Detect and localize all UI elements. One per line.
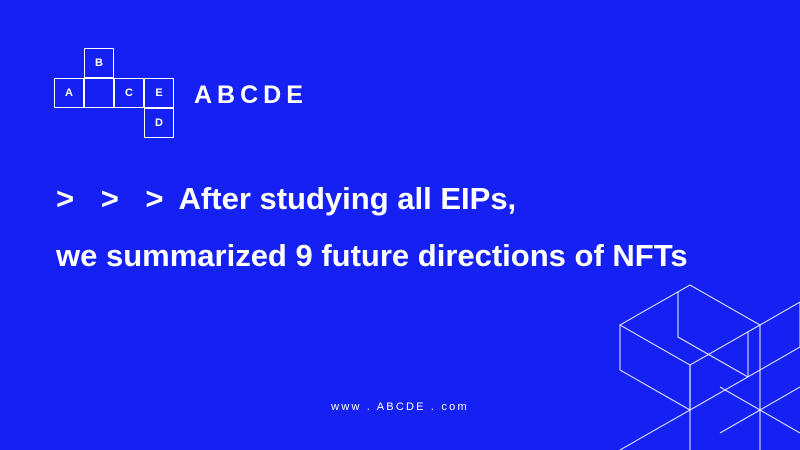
logo-cell-d: D (144, 108, 174, 138)
logo-cell-blank (84, 78, 114, 108)
headline-line-1-text: After studying all EIPs, (179, 181, 517, 216)
logo-cell-a: A (54, 78, 84, 108)
logo-cell-b: B (84, 48, 114, 78)
logo-mark: B A C E D (54, 48, 170, 140)
headline-block: > > >After studying all EIPs, we summari… (56, 183, 688, 271)
logo-cell-e-label: E (155, 88, 162, 99)
logo-cell-a-label: A (65, 88, 73, 99)
brand-wordmark: ABCDE (194, 83, 308, 108)
headline-line-1: > > >After studying all EIPs, (56, 183, 688, 214)
footer-url: www . ABCDE . com (0, 401, 800, 413)
isometric-cube-wireframe-icon (560, 275, 800, 450)
logo-cell-b-label: B (95, 58, 103, 69)
chevron-prefix: > > > (56, 181, 173, 216)
logo-cell-d-label: D (155, 118, 163, 129)
logo-cell-e: E (144, 78, 174, 108)
logo-cell-c: C (114, 78, 144, 108)
logo-cell-c-label: C (125, 88, 133, 99)
slide-canvas: B A C E D ABCDE > > >After studying all … (0, 0, 800, 450)
headline-line-2: we summarized 9 future directions of NFT… (56, 240, 688, 271)
brand-lockup: B A C E D ABCDE (54, 48, 308, 140)
